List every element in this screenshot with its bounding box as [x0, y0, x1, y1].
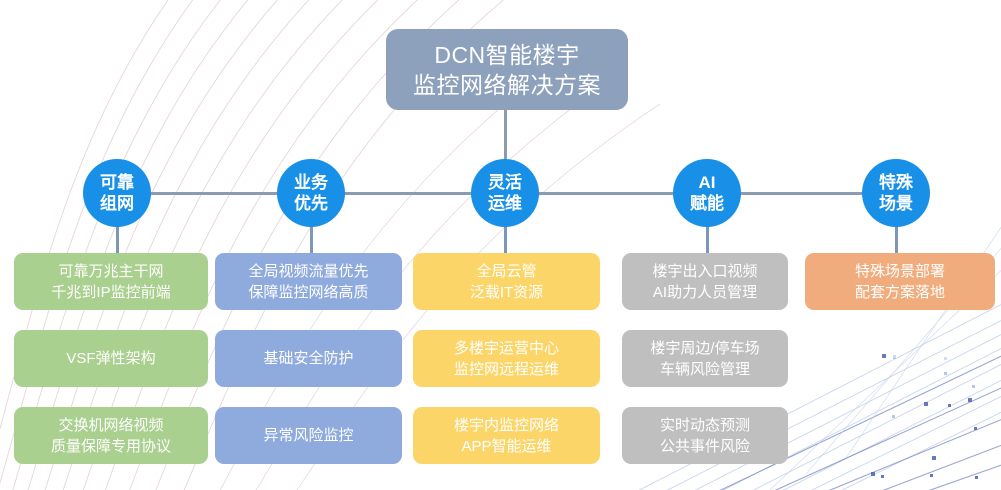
node-card-connector-4 — [895, 226, 898, 254]
title-line-2: 监控网络解决方案 — [413, 70, 601, 100]
card-line-1: VSF弹性架构 — [66, 348, 155, 369]
title-connector-line — [504, 110, 507, 160]
card-line-1: 多楼宇运营中心 — [454, 338, 559, 359]
card-business-priority-0[interactable]: 全局视频流量优先保障监控网络高质 — [215, 253, 402, 310]
card-line-2: 车辆风险管理 — [660, 359, 750, 380]
card-reliable-networking-1[interactable]: VSF弹性架构 — [14, 330, 208, 387]
card-flexible-operations-1[interactable]: 多楼宇运营中心监控网远程运维 — [413, 330, 600, 387]
card-column-ai-empowerment: 楼宇出入口视频AI助力人员管理楼宇周边/停车场车辆风险管理实时动态预测公共事件风… — [622, 253, 788, 464]
card-column-reliable-networking: 可靠万兆主干网千兆到IP监控前端VSF弹性架构交换机网络视频质量保障专用协议 — [14, 253, 208, 464]
card-column-special-scenarios: 特殊场景部署配套方案落地 — [805, 253, 995, 310]
card-column-business-priority: 全局视频流量优先保障监控网络高质基础安全防护异常风险监控 — [215, 253, 402, 464]
card-line-2: APP智能运维 — [461, 436, 551, 457]
node-label-line-1: 灵活 — [488, 172, 522, 193]
card-line-2: 保障监控网络高质 — [248, 282, 368, 303]
card-line-1: 实时动态预测 — [660, 415, 750, 436]
card-special-scenarios-0[interactable]: 特殊场景部署配套方案落地 — [805, 253, 995, 310]
card-line-1: 楼宇周边/停车场 — [650, 338, 759, 359]
card-line-2: 监控网远程运维 — [454, 359, 559, 380]
node-card-connector-0 — [116, 226, 119, 254]
card-line-1: 全局视频流量优先 — [248, 261, 368, 282]
node-label-line-2: 场景 — [879, 193, 913, 214]
node-circle-1[interactable]: 业务优先 — [277, 159, 345, 227]
card-line-1: 楼宇出入口视频 — [652, 261, 757, 282]
title-line-1: DCN智能楼宇 — [434, 40, 579, 70]
node-label-line-1: AI — [699, 172, 716, 193]
card-ai-empowerment-0[interactable]: 楼宇出入口视频AI助力人员管理 — [622, 253, 788, 310]
card-line-1: 全局云管 — [476, 261, 536, 282]
card-line-2: 泛载IT资源 — [470, 282, 543, 303]
node-label-line-1: 业务 — [294, 172, 328, 193]
node-card-connector-2 — [504, 226, 507, 254]
node-label-line-2: 组网 — [100, 193, 134, 214]
node-label-line-1: 特殊 — [879, 172, 913, 193]
node-label-line-2: 赋能 — [690, 193, 724, 214]
node-label-line-1: 可靠 — [100, 172, 134, 193]
card-line-1: 特殊场景部署 — [855, 261, 945, 282]
card-column-flexible-operations: 全局云管泛载IT资源多楼宇运营中心监控网远程运维楼宇内监控网络APP智能运维 — [413, 253, 600, 464]
card-ai-empowerment-1[interactable]: 楼宇周边/停车场车辆风险管理 — [622, 330, 788, 387]
card-business-priority-2[interactable]: 异常风险监控 — [215, 407, 402, 464]
card-line-2: AI助力人员管理 — [653, 282, 757, 303]
card-business-priority-1[interactable]: 基础安全防护 — [215, 330, 402, 387]
card-line-2: 千兆到IP监控前端 — [51, 282, 170, 303]
node-circle-0[interactable]: 可靠组网 — [83, 159, 151, 227]
node-card-connector-1 — [310, 226, 313, 254]
node-label-line-2: 运维 — [488, 193, 522, 214]
card-reliable-networking-2[interactable]: 交换机网络视频质量保障专用协议 — [14, 407, 208, 464]
card-line-2: 公共事件风险 — [660, 436, 750, 457]
card-flexible-operations-0[interactable]: 全局云管泛载IT资源 — [413, 253, 600, 310]
card-line-1: 交换机网络视频 — [58, 415, 163, 436]
card-line-2: 质量保障专用协议 — [51, 436, 171, 457]
diagram-canvas: DCN智能楼宇 监控网络解决方案 可靠组网业务优先灵活运维AI赋能特殊场景 可靠… — [0, 0, 1001, 490]
card-line-2: 配套方案落地 — [855, 282, 945, 303]
node-card-connector-3 — [706, 226, 709, 254]
card-line-1: 楼宇内监控网络 — [454, 415, 559, 436]
node-circle-3[interactable]: AI赋能 — [673, 159, 741, 227]
diagram-title: DCN智能楼宇 监控网络解决方案 — [386, 29, 628, 110]
card-line-1: 异常风险监控 — [263, 425, 353, 446]
node-circle-4[interactable]: 特殊场景 — [862, 159, 930, 227]
card-flexible-operations-2[interactable]: 楼宇内监控网络APP智能运维 — [413, 407, 600, 464]
card-line-1: 可靠万兆主干网 — [58, 261, 163, 282]
card-reliable-networking-0[interactable]: 可靠万兆主干网千兆到IP监控前端 — [14, 253, 208, 310]
card-line-1: 基础安全防护 — [263, 348, 353, 369]
node-label-line-2: 优先 — [294, 193, 328, 214]
card-ai-empowerment-2[interactable]: 实时动态预测公共事件风险 — [622, 407, 788, 464]
node-circle-2[interactable]: 灵活运维 — [471, 159, 539, 227]
